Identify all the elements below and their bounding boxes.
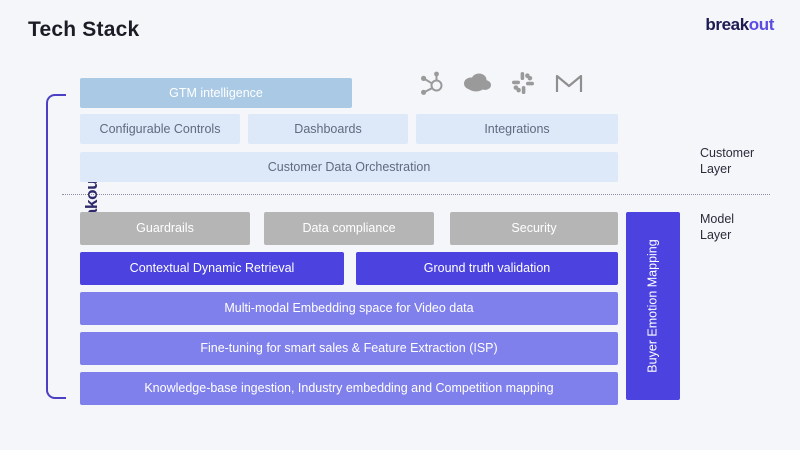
- box-configurable-controls[interactable]: Configurable Controls: [80, 114, 240, 144]
- page-title: Tech Stack: [28, 18, 139, 42]
- box-dashboards[interactable]: Dashboards: [248, 114, 408, 144]
- box-guardrails[interactable]: Guardrails: [80, 212, 250, 245]
- logo-primary-text: break: [705, 15, 748, 34]
- hubspot-icon: [418, 70, 444, 96]
- box-buyer-emotion-mapping[interactable]: Buyer Emotion Mapping: [626, 212, 680, 400]
- brand-bracket: [46, 94, 66, 399]
- label-customer-layer-line2: Layer: [700, 162, 754, 178]
- layer-divider: [62, 194, 770, 195]
- box-gtm-intelligence[interactable]: GTM intelligence: [80, 78, 352, 108]
- box-fine-tuning-feature-extraction[interactable]: Fine-tuning for smart sales & Feature Ex…: [80, 332, 618, 365]
- box-multimodal-embedding-space[interactable]: Multi-modal Embedding space for Video da…: [80, 292, 618, 325]
- gmail-icon: [554, 70, 584, 96]
- logo-accent-text: out: [749, 15, 774, 34]
- label-model-layer: Model Layer: [700, 212, 734, 243]
- box-data-compliance[interactable]: Data compliance: [264, 212, 434, 245]
- box-contextual-dynamic-retrieval[interactable]: Contextual Dynamic Retrieval: [80, 252, 344, 285]
- label-customer-layer: Customer Layer: [700, 146, 754, 177]
- box-buyer-emotion-mapping-label: Buyer Emotion Mapping: [646, 239, 660, 372]
- label-model-layer-line2: Layer: [700, 228, 734, 244]
- slack-icon: [510, 70, 536, 96]
- box-customer-data-orchestration[interactable]: Customer Data Orchestration: [80, 152, 618, 182]
- box-knowledge-base-ingestion[interactable]: Knowledge-base ingestion, Industry embed…: [80, 372, 618, 405]
- slide-canvas: Tech Stack breakout breakout: [0, 0, 800, 450]
- box-security[interactable]: Security: [450, 212, 618, 245]
- integration-icon-row: [418, 70, 584, 96]
- label-model-layer-line1: Model: [700, 212, 734, 228]
- box-integrations[interactable]: Integrations: [416, 114, 618, 144]
- label-customer-layer-line1: Customer: [700, 146, 754, 162]
- salesforce-cloud-icon: [462, 70, 492, 96]
- breakout-logo: breakout: [705, 15, 774, 35]
- box-ground-truth-validation[interactable]: Ground truth validation: [356, 252, 618, 285]
